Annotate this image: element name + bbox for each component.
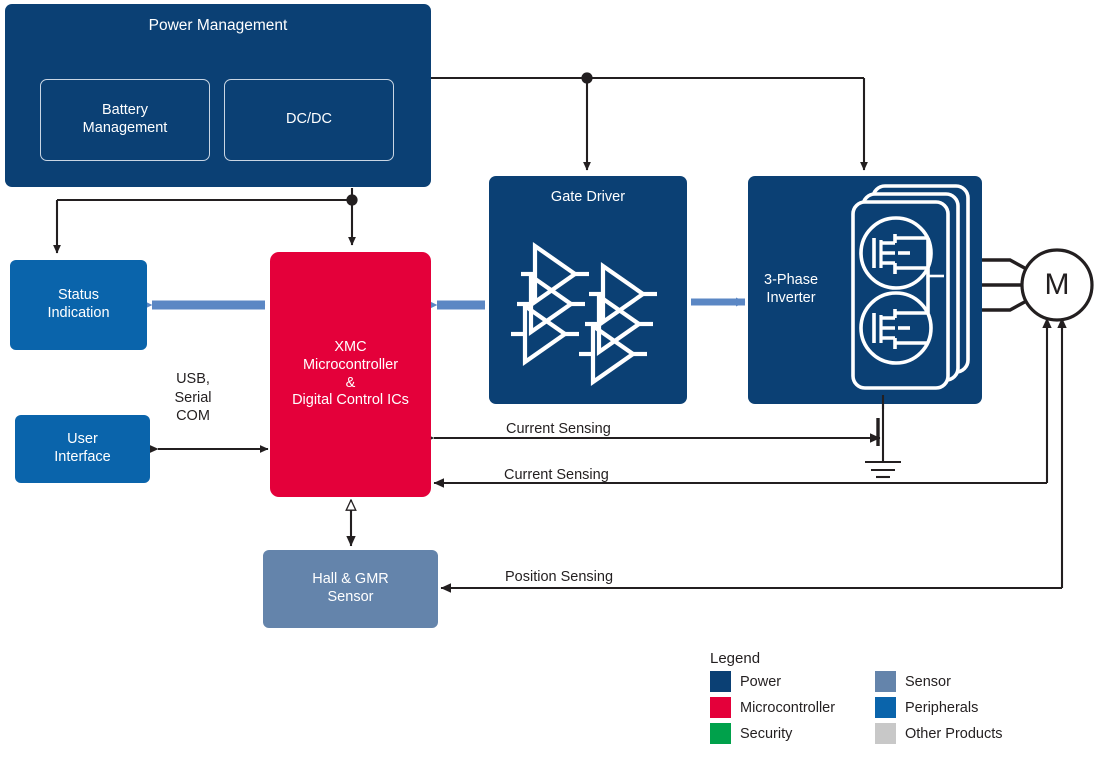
legend-title: Legend [710,650,1040,667]
usb-line1: USB, [170,370,216,389]
power-management-label: Power Management [149,17,288,36]
block-gate-driver[interactable]: Gate Driver [489,176,687,404]
legend-label-microcontroller: Microcontroller [740,700,835,716]
legend-row: Security Other Products [710,723,1040,744]
legend-swatch-sensor [875,671,896,692]
battery-management-label: Battery Management [83,102,168,137]
status-indication-label: Status Indication [47,287,109,322]
block-hall-gmr-sensor[interactable]: Hall & GMR Sensor [263,550,438,628]
user-interface-line1: User [54,431,110,449]
dcdc-label: DC/DC [286,111,332,129]
legend-row: Power Sensor [710,671,1040,692]
motor-label: M [1022,250,1092,320]
junction-dot-power-rail [581,72,592,83]
hall-sensor-line2: Sensor [312,589,389,607]
legend-item-peripherals: Peripherals [875,697,1040,718]
battery-management-line2: Management [83,120,168,138]
legend-swatch-security [710,723,731,744]
legend-item-microcontroller: Microcontroller [710,697,875,718]
battery-management-line1: Battery [83,102,168,120]
hall-sensor-label: Hall & GMR Sensor [312,571,389,606]
mcu-line1: XMC [292,339,409,357]
legend-item-sensor: Sensor [875,671,1040,692]
block-battery-management[interactable]: Battery Management [40,79,210,161]
block-user-interface[interactable]: User Interface [15,415,150,483]
legend-label-security: Security [740,726,792,742]
label-current-sensing-1: Current Sensing [506,420,611,439]
diagram-canvas: Power Management Battery Management DC/D… [0,0,1100,765]
gate-driver-label: Gate Driver [551,189,625,207]
usb-line3: COM [170,407,216,426]
status-indication-line2: Indication [47,305,109,323]
block-3-phase-inverter[interactable]: 3-Phase Inverter [748,176,982,404]
legend: Legend Power Sensor Microcontroller Peri… [710,650,1040,749]
legend-swatch-power [710,671,731,692]
user-interface-label: User Interface [54,431,110,466]
block-xmc-microcontroller[interactable]: XMC Microcontroller & Digital Control IC… [270,252,431,497]
legend-item-security: Security [710,723,875,744]
inverter-line1: 3-Phase [764,272,818,290]
block-status-indication[interactable]: Status Indication [10,260,147,350]
status-indication-line1: Status [47,287,109,305]
usb-line2: Serial [170,389,216,408]
legend-label-power: Power [740,674,781,690]
block-dcdc[interactable]: DC/DC [224,79,394,161]
label-current-sensing-2: Current Sensing [504,466,609,485]
user-interface-line2: Interface [54,449,110,467]
inverter-line2: Inverter [764,290,818,308]
mcu-line3: & [292,375,409,393]
legend-swatch-microcontroller [710,697,731,718]
label-position-sensing: Position Sensing [505,568,613,587]
legend-label-sensor: Sensor [905,674,951,690]
mcu-line2: Microcontroller [292,357,409,375]
legend-item-other-products: Other Products [875,723,1040,744]
legend-label-peripherals: Peripherals [905,700,978,716]
label-usb-serial-com: USB, Serial COM [170,370,216,426]
legend-swatch-peripherals [875,697,896,718]
legend-swatch-other-products [875,723,896,744]
inverter-dc-return-lead [748,395,988,415]
junction-dot-power-branch [346,194,357,205]
mcu-line4: Digital Control ICs [292,392,409,410]
hall-sensor-line1: Hall & GMR [312,571,389,589]
mcu-label: XMC Microcontroller & Digital Control IC… [292,339,409,410]
legend-item-power: Power [710,671,875,692]
inverter-label: 3-Phase Inverter [764,272,818,307]
legend-row: Microcontroller Peripherals [710,697,1040,718]
legend-label-other-products: Other Products [905,726,1003,742]
